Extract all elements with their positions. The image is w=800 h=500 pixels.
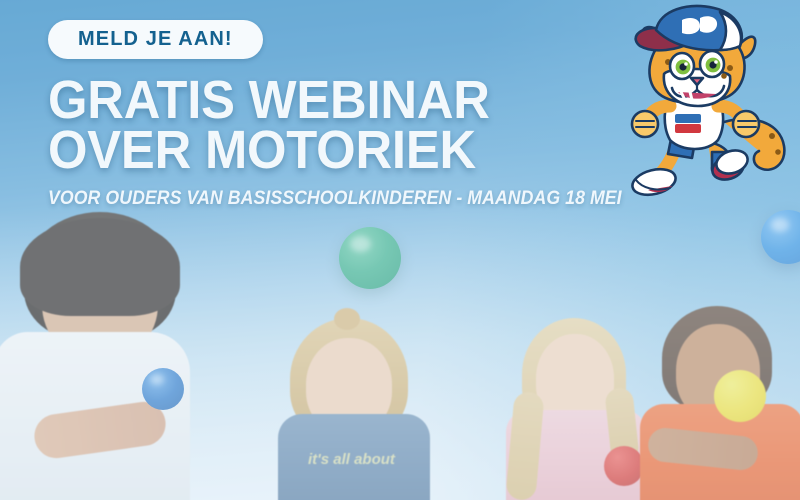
orange-shirt <box>640 404 800 500</box>
arm <box>647 426 760 471</box>
hair <box>24 212 176 340</box>
pigtail-left <box>505 391 544 500</box>
blue-ball-icon <box>761 210 800 264</box>
face <box>306 338 392 434</box>
child-boy-white-shirt <box>0 212 244 500</box>
red-ball-held-icon <box>604 446 644 486</box>
green-ball-icon <box>339 227 401 289</box>
yellow-ball-held-icon <box>714 370 766 422</box>
blue-tshirt <box>278 414 430 500</box>
pigtail-right <box>604 387 640 464</box>
child-girl-blue-shirt: it's all about <box>276 318 436 500</box>
tshirt-print: it's all about <box>308 450 400 492</box>
hair-bun <box>334 308 360 330</box>
hair-front <box>20 218 180 316</box>
hair <box>662 306 772 410</box>
face <box>42 234 158 360</box>
child-girl-pink-shirt <box>500 318 650 500</box>
cheetah-mascot-icon <box>612 2 800 208</box>
page-title: GRATIS WEBINAR OVER MOTORIEK <box>48 75 628 175</box>
webinar-promo-banner: it's all about MELD JE AAN! GRATIS WEBIN… <box>0 0 800 500</box>
arm <box>32 399 169 461</box>
subtitle: VOOR OUDERS VAN BASISSCHOOLKINDEREN - MA… <box>48 188 622 210</box>
headline-block: MELD JE AAN! GRATIS WEBINAR OVER MOTORIE… <box>48 20 665 210</box>
hair <box>290 318 408 440</box>
hair <box>522 318 626 430</box>
face <box>676 324 760 420</box>
pink-shirt <box>506 410 646 500</box>
face <box>536 334 614 426</box>
child-girl-orange-shirt <box>640 306 800 500</box>
blue-ball-held-icon <box>142 368 184 410</box>
white-tshirt <box>0 332 190 500</box>
signup-badge[interactable]: MELD JE AAN! <box>48 20 263 59</box>
headline-line-2: OVER MOTORIEK <box>48 125 628 175</box>
